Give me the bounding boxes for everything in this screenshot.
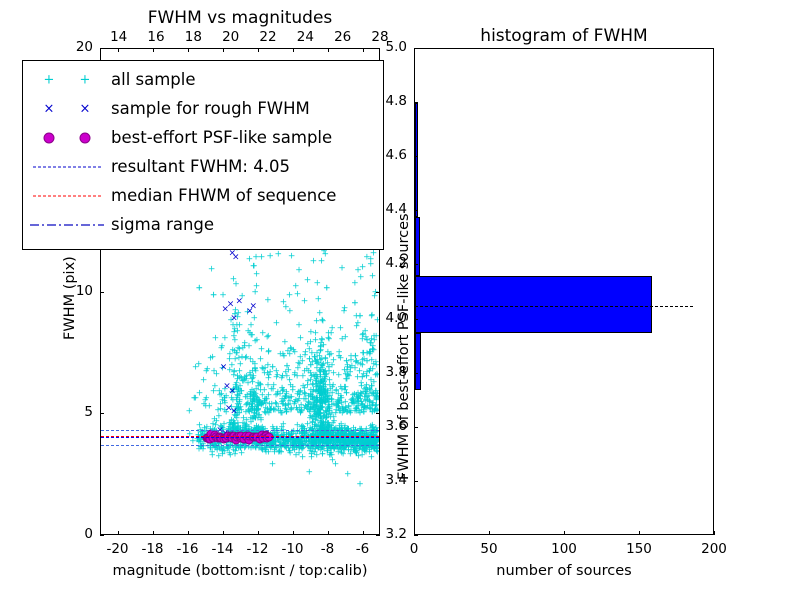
left-plot-xlabel: magnitude (bottom:isnt / top:calib)	[112, 563, 367, 579]
scatter-point-all: +	[371, 337, 379, 346]
scatter-point-all: +	[359, 373, 367, 382]
y-tick-label: 20	[76, 39, 93, 55]
scatter-point-all: +	[212, 334, 220, 343]
scatter-point-all: +	[210, 367, 218, 376]
scatter-point-all: +	[269, 461, 277, 470]
scatter-point-all: +	[351, 279, 359, 288]
y-tick	[414, 535, 418, 536]
x-tick	[714, 531, 715, 535]
top-tick-label: 22	[259, 29, 276, 45]
scatter-point-all: +	[356, 480, 364, 489]
scatter-point-rough: ×	[230, 315, 238, 324]
top-tick-label: 16	[147, 29, 164, 45]
x-tick	[328, 531, 329, 535]
scatter-point-all: +	[311, 354, 319, 363]
y-tick	[376, 292, 380, 293]
scatter-point-all: +	[308, 373, 316, 382]
y-tick-label: 4.2	[386, 255, 407, 271]
scatter-point-all: +	[263, 334, 271, 343]
scatter-point-all: +	[237, 403, 245, 412]
scatter-point-rough: ×	[230, 407, 238, 416]
x-tick-label: -18	[141, 541, 163, 557]
y-tick-label: 5	[84, 404, 93, 420]
scatter-point-all: +	[325, 408, 333, 417]
y-tick	[376, 413, 380, 414]
x-tick	[223, 531, 224, 535]
x-tick	[153, 531, 154, 535]
top-tick	[293, 48, 294, 52]
scatter-point-all: +	[209, 353, 217, 362]
scatter-point-all: +	[304, 277, 312, 286]
legend-label: sample for rough FWHM	[111, 99, 310, 118]
legend-symbol-cross: ××	[23, 94, 111, 123]
scatter-point-all: +	[293, 373, 301, 382]
scatter-point-all: +	[219, 291, 227, 300]
scatter-point-all: +	[318, 377, 326, 386]
x-tick-label: -12	[246, 541, 268, 557]
scatter-point-all: +	[348, 400, 356, 409]
histogram-bar	[415, 217, 420, 277]
scatter-point-all: +	[295, 322, 303, 331]
scatter-point-all: +	[313, 317, 321, 326]
scatter-point-rough: ×	[228, 388, 236, 397]
y-tick-label: 3.4	[386, 472, 407, 488]
x-tick-label: -6	[356, 541, 369, 557]
x-tick	[258, 531, 259, 535]
scatter-point-all: +	[337, 325, 345, 334]
scatter-point-all: +	[289, 386, 297, 395]
scatter-point-all: +	[285, 438, 293, 447]
resultant-fwhm-line	[101, 437, 379, 438]
x-tick-label: 100	[551, 541, 577, 557]
y-tick-label: 10	[76, 283, 93, 299]
scatter-point-rough: ×	[220, 363, 228, 372]
scatter-point-all: +	[282, 304, 290, 313]
y-tick	[376, 535, 380, 536]
right-plot-ylabel: FWHM of best-effort PSF-like sources	[396, 213, 412, 480]
legend-item-sigma-range: sigma range	[23, 210, 383, 239]
y-tick-label: 5.0	[386, 39, 407, 55]
figure-canvas: ++++++++++++++++++++++++++++++++++++++++…	[0, 0, 800, 600]
y-tick	[376, 48, 380, 49]
scatter-point-all: +	[294, 291, 302, 300]
sigma-range-upper-line	[101, 430, 379, 431]
scatter-point-all: +	[314, 398, 322, 407]
scatter-point-all: +	[200, 377, 208, 386]
x-tick	[489, 531, 490, 535]
scatter-point-all: +	[328, 361, 336, 370]
top-tick-label: 20	[222, 29, 239, 45]
scatter-point-all: +	[352, 352, 360, 361]
legend-item-median-fwhm: median FHWM of sequence	[23, 181, 383, 210]
scatter-point-all: +	[208, 266, 216, 275]
legend-label: all sample	[111, 70, 196, 89]
x-tick	[363, 531, 364, 535]
scatter-point-all: +	[258, 253, 266, 262]
scatter-point-all: +	[293, 405, 301, 414]
y-tick	[100, 413, 104, 414]
scatter-point-all: +	[232, 281, 240, 290]
scatter-point-all: +	[305, 402, 313, 411]
legend-symbol-dot	[23, 123, 111, 152]
legend-label: resultant FWHM: 4.05	[111, 157, 290, 176]
scatter-point-all: +	[366, 348, 374, 357]
scatter-point-all: +	[261, 369, 269, 378]
scatter-point-all: +	[343, 390, 351, 399]
scatter-point-all: +	[351, 299, 359, 308]
scatter-point-all: +	[228, 361, 236, 370]
top-tick	[223, 48, 224, 52]
scatter-point-all: +	[274, 251, 282, 260]
x-tick	[639, 531, 640, 535]
scatter-point-all: +	[196, 285, 204, 294]
x-tick	[188, 531, 189, 535]
y-tick	[414, 48, 418, 49]
scatter-point-all: +	[203, 366, 211, 375]
scatter-point-all: +	[363, 357, 371, 366]
y-tick	[414, 264, 418, 265]
scatter-point-all: +	[253, 270, 261, 279]
scatter-point-all: +	[356, 312, 364, 321]
scatter-point-all: +	[191, 395, 199, 404]
top-tick	[258, 48, 259, 52]
scatter-point-all: +	[306, 415, 314, 424]
y-tick-label: 4.8	[386, 93, 407, 109]
scatter-point-all: +	[313, 279, 321, 288]
histogram-bar	[415, 103, 418, 217]
top-tick-label: 14	[110, 29, 127, 45]
y-tick	[100, 48, 104, 49]
scatter-point-all: +	[323, 285, 331, 294]
top-tick-label: 18	[185, 29, 202, 45]
scatter-point-all: +	[361, 438, 369, 447]
y-tick-label: 4.4	[386, 201, 407, 217]
scatter-point-all: +	[231, 420, 239, 429]
histogram-bar	[415, 333, 421, 390]
top-tick	[153, 48, 154, 52]
legend-label: best-effort PSF-like sample	[111, 128, 332, 147]
legend-item-psf-like: best-effort PSF-like sample	[23, 123, 383, 152]
y-tick-label: 3.6	[386, 418, 407, 434]
top-tick	[363, 48, 364, 52]
scatter-point-all: +	[369, 272, 377, 281]
y-tick-label: 3.8	[386, 364, 407, 380]
scatter-point-all: +	[283, 409, 291, 418]
top-tick-label: 26	[334, 29, 351, 45]
x-tick-label: -8	[321, 541, 334, 557]
scatter-point-all: +	[230, 328, 238, 337]
histogram-median-line	[415, 306, 693, 307]
y-tick	[414, 102, 418, 103]
scatter-point-all: +	[251, 365, 259, 374]
scatter-point-all: +	[217, 344, 225, 353]
y-tick	[414, 156, 418, 157]
scatter-point-all: +	[332, 461, 340, 470]
top-tick	[118, 48, 119, 52]
scatter-point-all: +	[266, 253, 274, 262]
scatter-point-all: +	[342, 376, 350, 385]
histogram-bars-layer	[415, 49, 713, 534]
legend-symbol-plus: ++	[23, 65, 111, 94]
scatter-point-all: +	[363, 337, 371, 346]
scatter-point-all: +	[280, 353, 288, 362]
left-plot-title: FWHM vs magnitudes	[148, 8, 333, 28]
scatter-point-all: +	[241, 340, 249, 349]
scatter-point-all: +	[258, 345, 266, 354]
scatter-point-all: +	[236, 373, 244, 382]
x-tick	[118, 531, 119, 535]
right-plot-title: histogram of FWHM	[480, 26, 647, 46]
scatter-point-all: +	[329, 381, 337, 390]
scatter-point-all: +	[305, 468, 313, 477]
scatter-point-all: +	[254, 402, 262, 411]
scatter-point-all: +	[344, 471, 352, 480]
legend: ++ all sample ×× sample for rough FWHM b…	[22, 60, 384, 250]
top-tick-label: 24	[297, 29, 314, 45]
scatter-point-all: +	[206, 445, 214, 454]
legend-label: median FHWM of sequence	[111, 186, 336, 205]
x-tick-label: 150	[626, 541, 652, 557]
y-tick-label: 3.2	[386, 526, 407, 542]
x-tick-label: 200	[701, 541, 727, 557]
sigma-range-lower-line	[101, 445, 379, 446]
y-tick-label: 0	[84, 526, 93, 542]
x-tick-label: -14	[211, 541, 233, 557]
scatter-point-all: +	[186, 407, 194, 416]
scatter-point-all: +	[286, 292, 294, 301]
scatter-point-all: +	[338, 336, 346, 345]
scatter-point-all: +	[259, 446, 267, 455]
legend-symbol-red-dashed-line	[23, 181, 111, 210]
scatter-point-all: +	[372, 288, 379, 297]
top-tick	[188, 48, 189, 52]
scatter-point-all: +	[265, 348, 273, 357]
scatter-point-all: +	[321, 387, 329, 396]
scatter-point-all: +	[321, 250, 329, 259]
y-tick	[414, 373, 418, 374]
y-tick	[414, 319, 418, 320]
x-tick-label: -10	[281, 541, 303, 557]
y-tick	[414, 427, 418, 428]
scatter-point-all: +	[335, 353, 343, 362]
scatter-point-all: +	[232, 350, 240, 359]
scatter-point-all: +	[210, 292, 218, 301]
scatter-point-all: +	[253, 283, 261, 292]
histogram-bar	[415, 276, 652, 333]
x-tick-label: 0	[410, 541, 419, 557]
scatter-point-all: +	[310, 257, 318, 266]
y-tick	[414, 210, 418, 211]
scatter-point-all: +	[195, 360, 203, 369]
scatter-point-all: +	[373, 427, 379, 436]
scatter-point-all: +	[251, 390, 259, 399]
scatter-point-all: +	[338, 264, 346, 273]
scatter-point-all: +	[343, 357, 351, 366]
scatter-point-all: +	[247, 321, 255, 330]
y-tick	[414, 481, 418, 482]
scatter-point-all: +	[237, 360, 245, 369]
scatter-point-all: +	[366, 386, 374, 395]
scatter-point-all: +	[354, 267, 362, 276]
scatter-point-rough: ×	[246, 307, 254, 316]
x-tick-label: 50	[480, 541, 497, 557]
scatter-point-all: +	[200, 400, 208, 409]
scatter-point-rough: ×	[232, 254, 240, 263]
scatter-point-all: +	[277, 448, 285, 457]
scatter-point-all: +	[368, 312, 376, 321]
scatter-point-all: +	[273, 319, 281, 328]
y-tick-label: 4.6	[386, 147, 407, 163]
legend-symbol-dashdot-line	[23, 210, 111, 239]
x-tick-label: -20	[106, 541, 128, 557]
scatter-point-all: +	[301, 297, 309, 306]
x-tick	[293, 531, 294, 535]
legend-item-rough-fwhm: ×× sample for rough FWHM	[23, 94, 383, 123]
histogram-plot-axes	[414, 48, 714, 535]
x-tick-label: -16	[176, 541, 198, 557]
scatter-point-all: +	[340, 307, 348, 316]
dashdot-line-icon	[28, 219, 106, 231]
top-tick	[328, 48, 329, 52]
y-tick	[100, 292, 104, 293]
scatter-point-all: +	[226, 452, 234, 461]
legend-item-all-sample: ++ all sample	[23, 65, 383, 94]
scatter-point-all: +	[264, 296, 272, 305]
scatter-point-all: +	[370, 250, 378, 259]
right-plot-xlabel: number of sources	[496, 563, 632, 579]
scatter-point-all: +	[328, 325, 336, 334]
x-tick	[564, 531, 565, 535]
scatter-point-all: +	[278, 385, 286, 394]
scatter-point-all: +	[288, 252, 296, 261]
scatter-point-all: +	[266, 406, 274, 415]
y-tick	[100, 535, 104, 536]
scatter-point-all: +	[283, 362, 291, 371]
scatter-point-all: +	[291, 349, 299, 358]
scatter-point-rough: ×	[221, 305, 229, 314]
legend-label: sigma range	[111, 215, 214, 234]
scatter-point-all: +	[279, 372, 287, 381]
scatter-point-all: +	[250, 262, 258, 271]
scatter-point-all: +	[295, 266, 303, 275]
scatter-point-rough: ×	[235, 298, 243, 307]
scatter-point-all: +	[315, 296, 323, 305]
y-tick-label: 4.0	[386, 310, 407, 326]
legend-symbol-blue-dashed-line	[23, 152, 111, 181]
legend-item-resultant-fwhm: resultant FWHM: 4.05	[23, 152, 383, 181]
